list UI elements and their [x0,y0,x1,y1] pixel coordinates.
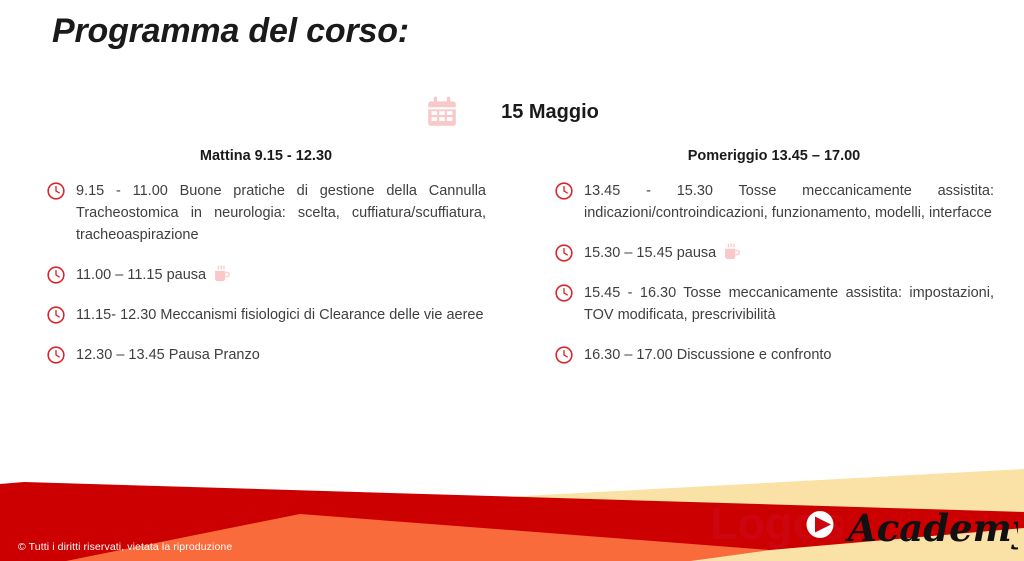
clock-icon [554,283,574,303]
column-morning: Mattina 9.15 - 12.30 9.15 - 11.00 Buone … [0,148,512,384]
clock-icon [554,243,574,263]
session-text: 16.30 – 17.00 Discussione e confronto [584,344,994,366]
session-text: 15.45 - 16.30 Tosse meccanicamente assis… [584,282,994,326]
copyright-text: © Tutti i diritti riservati, vietata la … [18,541,232,553]
column-afternoon: Pomeriggio 13.45 – 17.00 13.45 - 15.30 T… [512,148,1024,384]
session-item: 13.45 - 15.30 Tosse meccanicamente assis… [554,180,994,224]
session-text: 12.30 – 13.45 Pausa Pranzo [76,344,486,366]
clock-icon [554,345,574,365]
clock-icon [46,305,66,325]
session-item: 11.00 – 11.15 pausa [46,264,486,286]
coffee-cup-icon [716,245,740,261]
session-item: 15.30 – 15.45 pausa [554,242,994,264]
session-text: 13.45 - 15.30 Tosse meccanicamente assis… [584,180,994,224]
column-heading-morning: Mattina 9.15 - 12.30 [46,148,486,164]
session-text-wrapper: 11.00 – 11.15 pausa [76,264,486,286]
column-heading-afternoon: Pomeriggio 13.45 – 17.00 [554,148,994,164]
session-text: 9.15 - 11.00 Buone pratiche di gestione … [76,180,486,246]
clock-icon [46,265,66,285]
clock-icon [554,181,574,201]
session-text: 15.30 – 15.45 pausa [584,245,716,261]
date-header: 15 Maggio [0,95,1024,129]
coffee-cup-icon [206,267,230,283]
session-item: 11.15- 12.30 Meccanismi fisiologici di C… [46,304,486,326]
calendar-icon [425,95,459,129]
page-title: Programma del corso: [52,12,409,51]
clock-icon [46,181,66,201]
session-item: 16.30 – 17.00 Discussione e confronto [554,344,994,366]
date-label: 15 Maggio [501,101,599,124]
logo: Logos Academy [708,495,1018,553]
session-text: 11.15- 12.30 Meccanismi fisiologici di C… [76,304,486,326]
session-item: 9.15 - 11.00 Buone pratiche di gestione … [46,180,486,246]
clock-icon [46,345,66,365]
session-text-wrapper: 15.30 – 15.45 pausa [584,242,994,264]
logo-script: Academy [845,506,1018,550]
session-item: 12.30 – 13.45 Pausa Pranzo [46,344,486,366]
session-text: 11.00 – 11.15 pausa [76,267,206,283]
session-item: 15.45 - 16.30 Tosse meccanicamente assis… [554,282,994,326]
schedule-columns: Mattina 9.15 - 12.30 9.15 - 11.00 Buone … [0,148,1024,384]
